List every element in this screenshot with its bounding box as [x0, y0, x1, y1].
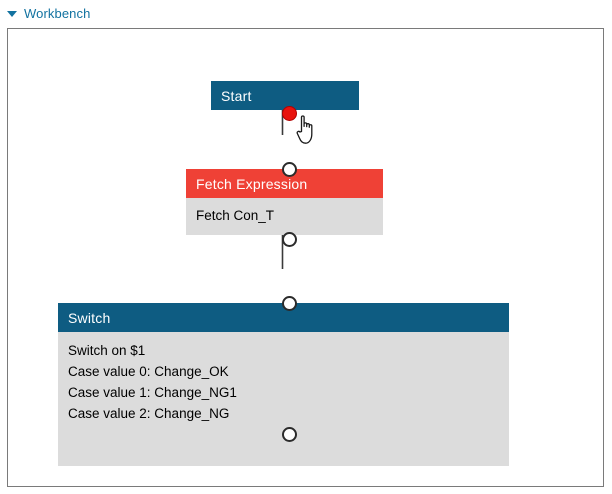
triangle-down-icon[interactable]	[7, 11, 17, 17]
node-switch-body[interactable]: Switch on $1 Case value 0: Change_OK Cas…	[58, 332, 509, 466]
port-fetch-expression-input[interactable]	[282, 162, 297, 177]
node-body-line: Case value 0: Change_OK	[68, 361, 509, 382]
pointing-hand-cursor	[293, 113, 319, 145]
port-switch-output[interactable]	[282, 427, 297, 442]
port-switch-input[interactable]	[282, 296, 297, 311]
port-fetch-expression-output[interactable]	[282, 232, 297, 247]
workflow-canvas[interactable]: Start Fetch Expression Fetch Con_T Switc…	[7, 28, 604, 487]
port-start-output[interactable]	[282, 106, 297, 121]
node-body-line: Switch on $1	[68, 340, 509, 361]
workbench-header[interactable]: Workbench	[0, 0, 90, 26]
node-switch-title: Switch	[68, 310, 110, 326]
node-body-line: Case value 2: Change_NG	[68, 403, 509, 424]
node-fetch-expression[interactable]: Fetch Expression Fetch Con_T	[186, 169, 383, 235]
page-title: Workbench	[24, 6, 90, 21]
node-fetch-expression-body[interactable]: Fetch Con_T	[186, 198, 383, 235]
node-switch[interactable]: Switch Switch on $1 Case value 0: Change…	[58, 303, 509, 466]
node-start[interactable]: Start	[211, 81, 359, 110]
node-body-line: Fetch Con_T	[196, 205, 383, 226]
node-body-line: Case value 1: Change_NG1	[68, 382, 509, 403]
node-start-header[interactable]: Start	[211, 81, 359, 110]
node-fetch-expression-title: Fetch Expression	[196, 176, 307, 192]
node-start-title: Start	[221, 88, 252, 104]
